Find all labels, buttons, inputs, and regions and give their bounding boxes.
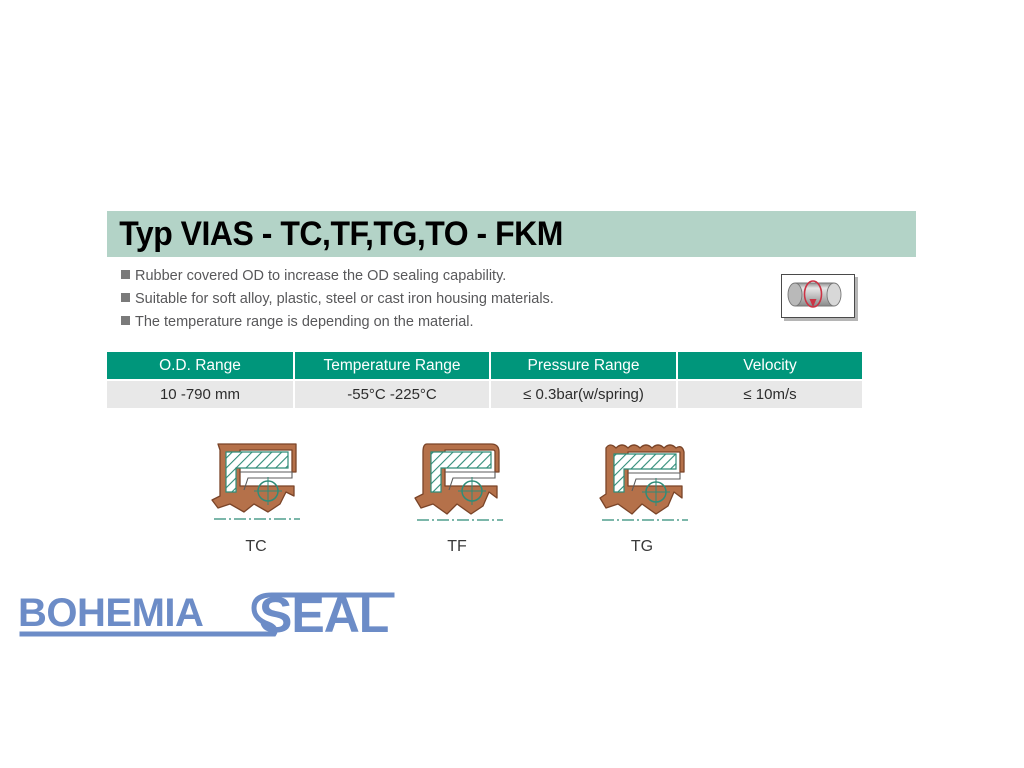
seal-diagram-tg: TG [582, 434, 702, 556]
cell-velocity: ≤ 10m/s [678, 381, 862, 408]
seal-label-tc: TC [196, 538, 316, 556]
seal-diagram-tf: TF [397, 434, 517, 556]
cell-od-range: 10 -790 mm [107, 381, 293, 408]
cell-temperature-range: -55°C -225°C [295, 381, 489, 408]
feature-item: Suitable for soft alloy, plastic, steel … [121, 291, 741, 312]
table-row: 10 -790 mm -55°C -225°C ≤ 0.3bar(w/sprin… [107, 381, 862, 408]
page-title: Typ VIAS - TC,TF,TG,TO - FKM [107, 215, 563, 254]
seal-label-tg: TG [582, 538, 702, 556]
page-title-bar: Typ VIAS - TC,TF,TG,TO - FKM [107, 211, 916, 257]
bohemia-seal-logo-icon: BOHEMIA SEAL [16, 586, 396, 646]
bullet-square-icon [121, 293, 130, 302]
feature-item: Rubber covered OD to increase the OD sea… [121, 268, 741, 289]
feature-list: Rubber covered OD to increase the OD sea… [121, 268, 741, 337]
bullet-square-icon [121, 316, 130, 325]
column-header-velocity: Velocity [678, 352, 862, 379]
bullet-square-icon [121, 270, 130, 279]
seal-cross-section-tg-icon [586, 434, 698, 532]
seal-cross-section-tc-icon [200, 434, 312, 532]
company-logo: BOHEMIA SEAL [16, 586, 396, 646]
feature-text: Suitable for soft alloy, plastic, steel … [135, 291, 554, 307]
seal-label-tf: TF [397, 538, 517, 556]
table-header-row: O.D. Range Temperature Range Pressure Ra… [107, 352, 862, 379]
specification-table: O.D. Range Temperature Range Pressure Ra… [105, 350, 864, 410]
feature-item: The temperature range is depending on th… [121, 314, 741, 335]
logo-primary-text: BOHEMIA [18, 591, 203, 635]
column-header-pressure-range: Pressure Range [491, 352, 676, 379]
column-header-temperature-range: Temperature Range [295, 352, 489, 379]
seal-diagram-tc: TC [196, 434, 316, 556]
cell-pressure-range: ≤ 0.3bar(w/spring) [491, 381, 676, 408]
seal-cross-section-tf-icon [401, 434, 513, 532]
feature-text: Rubber covered OD to increase the OD sea… [135, 268, 506, 284]
feature-text: The temperature range is depending on th… [135, 314, 474, 330]
column-header-od-range: O.D. Range [107, 352, 293, 379]
shaft-rotation-icon [781, 274, 855, 318]
